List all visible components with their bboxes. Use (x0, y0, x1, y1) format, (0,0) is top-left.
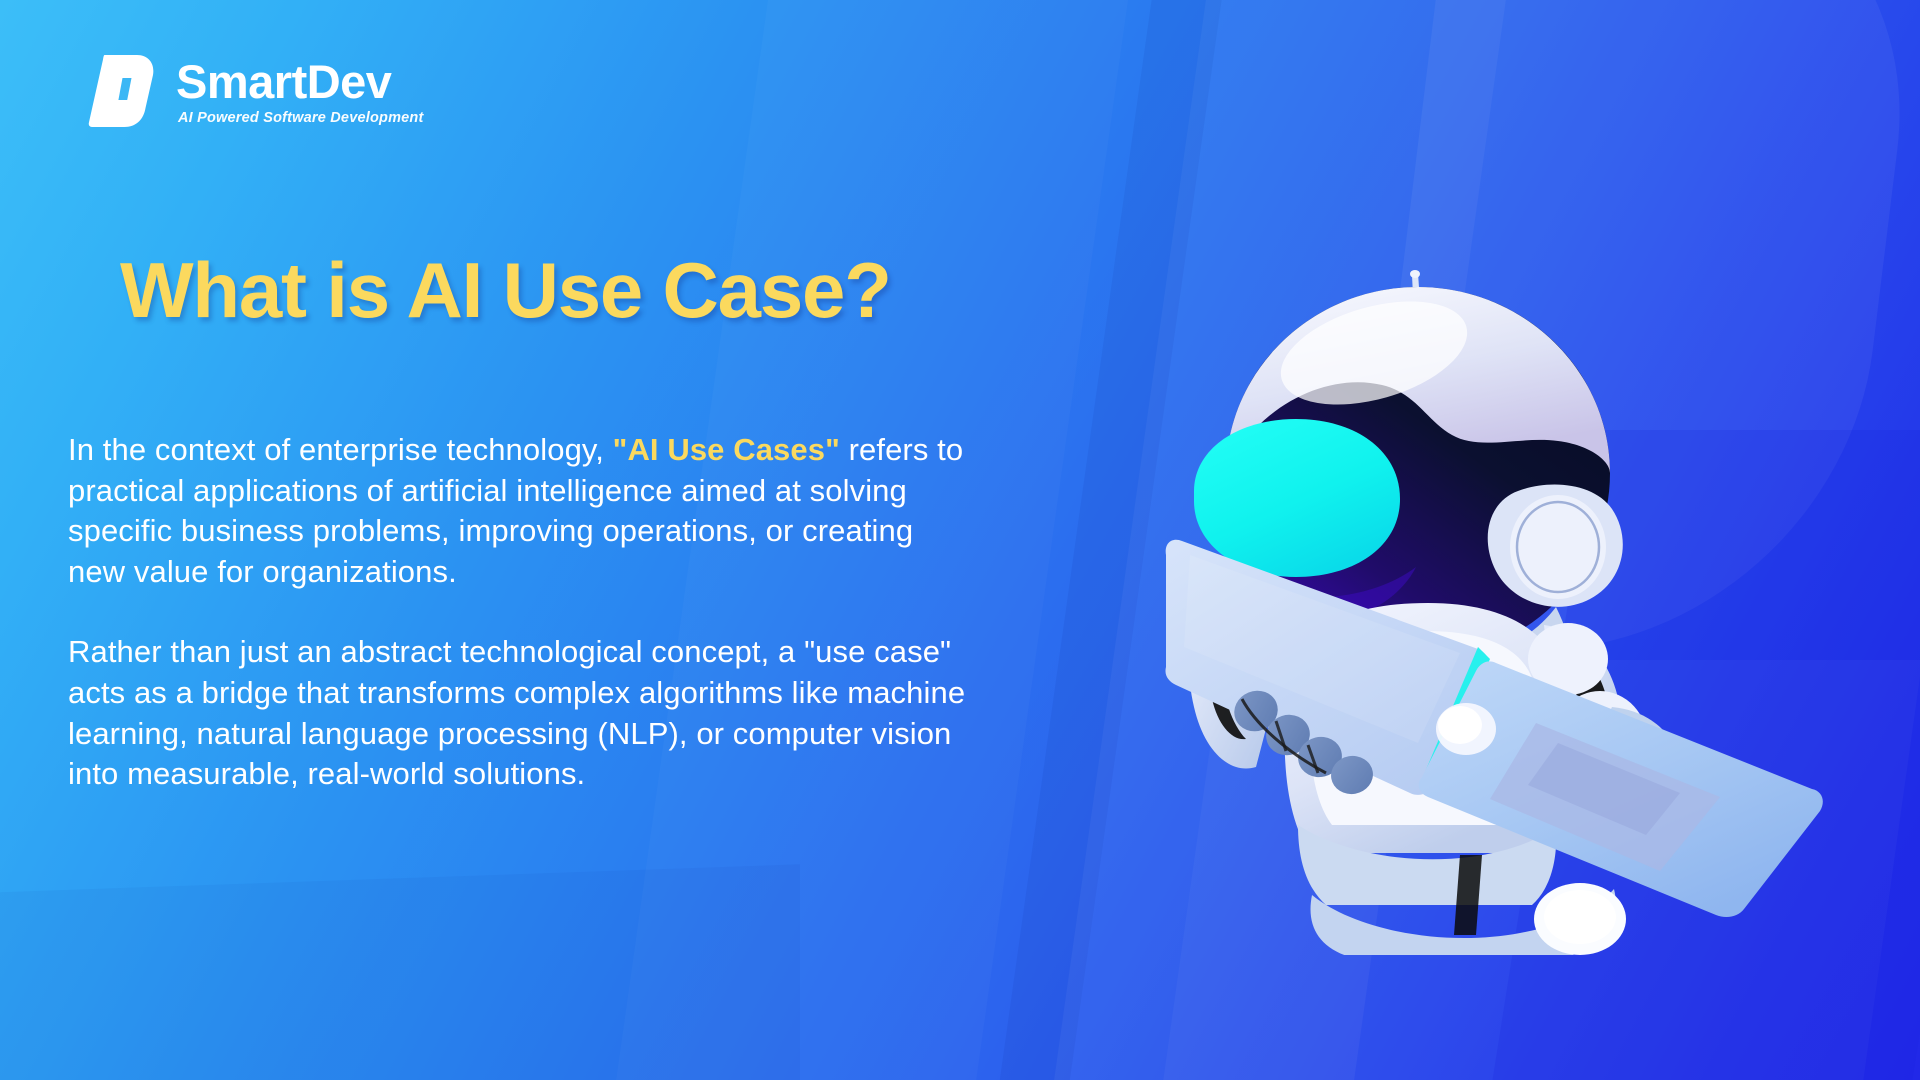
brand-tagline: AI Powered Software Development (178, 110, 424, 126)
smartdev-d-mark-icon (88, 52, 158, 130)
ai-robot-illustration (1160, 255, 1920, 955)
paragraph-two: Rather than just an abstract technologic… (68, 632, 968, 794)
ai-use-cases-highlight: "AI Use Cases" (613, 432, 840, 467)
robot-svg (1160, 255, 1920, 955)
paragraph-one: In the context of enterprise technology,… (68, 430, 968, 592)
body-text-block: In the context of enterprise technology,… (68, 430, 968, 795)
slide-canvas: SmartDev AI Powered Software Development… (0, 0, 1920, 1080)
brand-name: SmartDev (176, 58, 424, 105)
bg-wedge-bottom-left (0, 864, 800, 1080)
robot-hand-right (1436, 703, 1496, 755)
logo-text-block: SmartDev AI Powered Software Development (176, 52, 424, 126)
paragraph-one-lead: In the context of enterprise technology, (68, 432, 613, 467)
page-title: What is AI Use Case? (120, 250, 891, 332)
brand-logo[interactable]: SmartDev AI Powered Software Development (88, 52, 424, 130)
